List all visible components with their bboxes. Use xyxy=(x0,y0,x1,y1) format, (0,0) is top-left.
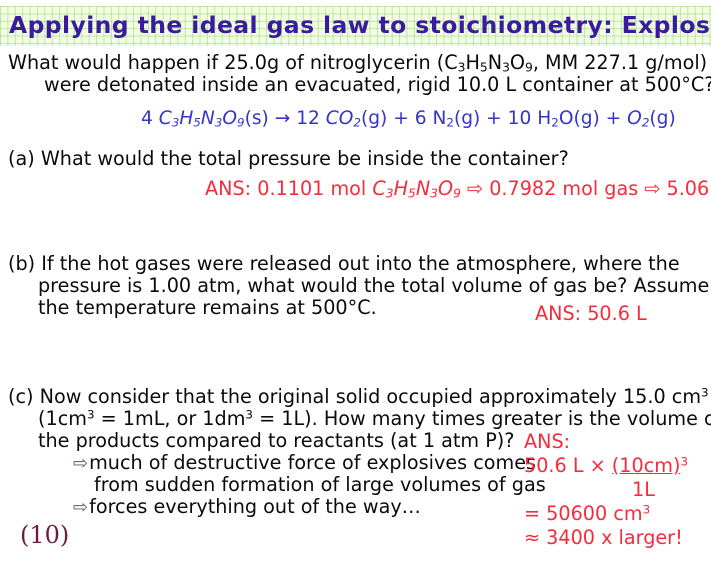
eq-plus-2: + xyxy=(480,108,507,129)
part-c-sup-2: 3 xyxy=(87,407,95,421)
block-arrow-icon: ⇨ xyxy=(73,453,88,476)
stem-text-c: N xyxy=(488,51,502,74)
eq-product-N2-state: (g) xyxy=(454,108,480,129)
part-a-formula-C: C xyxy=(372,177,385,200)
eq-coeff-2: 12 xyxy=(296,108,326,129)
eq-plus-3: + xyxy=(600,108,627,129)
part-c-answer-block: ANS: 50.6 L × (10cm)3 1L = 50600 cm3 ≈ 3… xyxy=(524,430,688,550)
part-c-ratio-row: ≈ 3400 x larger! xyxy=(524,526,688,550)
part-a-pressure: 5.06 atm xyxy=(667,177,711,200)
part-c-sup-1: 3 xyxy=(701,385,709,399)
bullet-2-label: forces everything out of the way… xyxy=(89,495,421,518)
eq-coeff-3: 6 xyxy=(415,108,433,129)
eq-reactant-H: H xyxy=(179,108,193,129)
part-c-sup-3: 3 xyxy=(245,407,253,421)
reaction-arrow-icon: → xyxy=(269,108,296,129)
problem-statement-line-1: What would happen if 25.0g of nitroglyce… xyxy=(8,52,707,75)
stem-text-a: What would happen if 25.0g of nitroglyce… xyxy=(8,51,458,74)
part-a-gas-moles: 0.7982 mol gas xyxy=(489,177,638,200)
part-b-line-3: the temperature remains at 500°C. xyxy=(38,297,377,320)
eq-product-O2-state: (g) xyxy=(649,108,675,129)
stem-text-b: H xyxy=(465,51,479,74)
part-c-fraction-denominator: 1L xyxy=(524,478,688,502)
eq-reactant-O: O xyxy=(222,108,237,129)
eq-reactant-O-sub: 9 xyxy=(237,116,245,130)
eq-coeff-1: 4 xyxy=(141,108,159,129)
eq-product-CO2: CO xyxy=(326,108,354,129)
block-arrow-icon: ⇨ xyxy=(73,497,88,520)
part-a-formula-H-sub: 5 xyxy=(408,187,416,201)
part-a-moles: 0.1101 mol xyxy=(257,177,372,200)
part-b-line-1: (b) If the hot gases were released out i… xyxy=(8,253,680,276)
eq-reactant-N: N xyxy=(201,108,215,129)
part-c-line-1: (c) Now consider that the original solid… xyxy=(8,386,709,409)
part-c-line-3: the products compared to reactants (at 1… xyxy=(38,430,514,453)
right-arrow-icon-1: ⇨ xyxy=(461,177,489,200)
part-c-line-2: (1cm3 = 1mL, or 1dm3 = 1L). How many tim… xyxy=(38,408,711,431)
eq-product-CO2-sub: 2 xyxy=(353,116,361,130)
eq-product-H2O-O: O xyxy=(559,108,574,129)
part-c-text-b: (1cm xyxy=(38,407,87,430)
list-item: ⇨forces everything out of the way… xyxy=(73,496,421,520)
part-c-fraction-numerator: (10cm) xyxy=(612,454,681,477)
eq-product-H2O-state: (g) xyxy=(573,108,599,129)
bullet-1-label: much of destructive force of explosives … xyxy=(89,451,536,474)
part-a-formula-O: O xyxy=(438,177,453,200)
eq-product-N2-sub: 2 xyxy=(446,116,454,130)
part-a-formula-O-sub: 9 xyxy=(453,187,461,201)
part-c-text-d: = 1L). How many times greater is the vol… xyxy=(253,407,711,430)
part-a-formula-N-sub: 3 xyxy=(430,187,438,201)
eq-reactant-state: (s) xyxy=(245,108,269,129)
part-a-formula-C-sub: 3 xyxy=(386,187,394,201)
part-a-formula-H: H xyxy=(394,177,408,200)
part-a-formula-N: N xyxy=(416,177,430,200)
stem-text-e: , MM 227.1 g/mol) xyxy=(533,51,707,74)
eq-product-N2: N xyxy=(432,108,446,129)
problem-statement-line-2: were detonated inside an evacuated, rigi… xyxy=(44,74,711,97)
eq-coeff-4: 10 xyxy=(508,108,538,129)
part-b-answer: ANS: 50.6 L xyxy=(535,303,647,326)
part-b-line-2: pressure is 1.00 atm, what would the tot… xyxy=(38,275,709,298)
eq-product-H2O-sub: 2 xyxy=(551,116,559,130)
chemical-equation: 4 C3H5N3O9(s) → 12 CO2(g) + 6 N2(g) + 10… xyxy=(141,108,676,131)
list-item-continuation: from sudden formation of large volumes o… xyxy=(94,474,546,497)
eq-product-H2O-H: H xyxy=(537,108,551,129)
eq-product-O2: O xyxy=(627,108,642,129)
list-item: ⇨much of destructive force of explosives… xyxy=(73,452,536,476)
right-arrow-icon-2: ⇨ xyxy=(638,177,666,200)
eq-reactant-H-sub: 5 xyxy=(193,116,201,130)
eq-reactant-C: C xyxy=(159,108,172,129)
part-c-result-exponent: 3 xyxy=(643,502,651,516)
part-c-result-value: = 50600 cm xyxy=(524,502,643,525)
part-c-volume: 50.6 L × xyxy=(524,454,612,477)
part-a-question: (a) What would the total pressure be ins… xyxy=(8,148,569,171)
part-c-text-a: (c) Now consider that the original solid… xyxy=(8,385,701,408)
part-c-ans-label: ANS: xyxy=(524,430,688,454)
part-c-fraction-numerator-exponent: 3 xyxy=(680,454,688,468)
slide-number: (10) xyxy=(20,521,69,549)
part-a-answer: ANS: 0.1101 mol C3H5N3O9 ⇨ 0.7982 mol ga… xyxy=(205,178,711,201)
stem-text-d: O xyxy=(510,51,525,74)
part-c-text-c: = 1mL, or 1dm xyxy=(95,407,246,430)
part-c-result-row: = 50600 cm3 xyxy=(524,502,688,526)
part-a-ans-label: ANS: xyxy=(205,177,257,200)
eq-plus-1: + xyxy=(387,108,414,129)
page-title: Applying the ideal gas law to stoichiome… xyxy=(0,14,711,38)
eq-product-CO2-state: (g) xyxy=(361,108,387,129)
part-c-conversion-row: 50.6 L × (10cm)3 xyxy=(524,454,688,478)
slide-title-band: Applying the ideal gas law to stoichiome… xyxy=(0,6,711,46)
